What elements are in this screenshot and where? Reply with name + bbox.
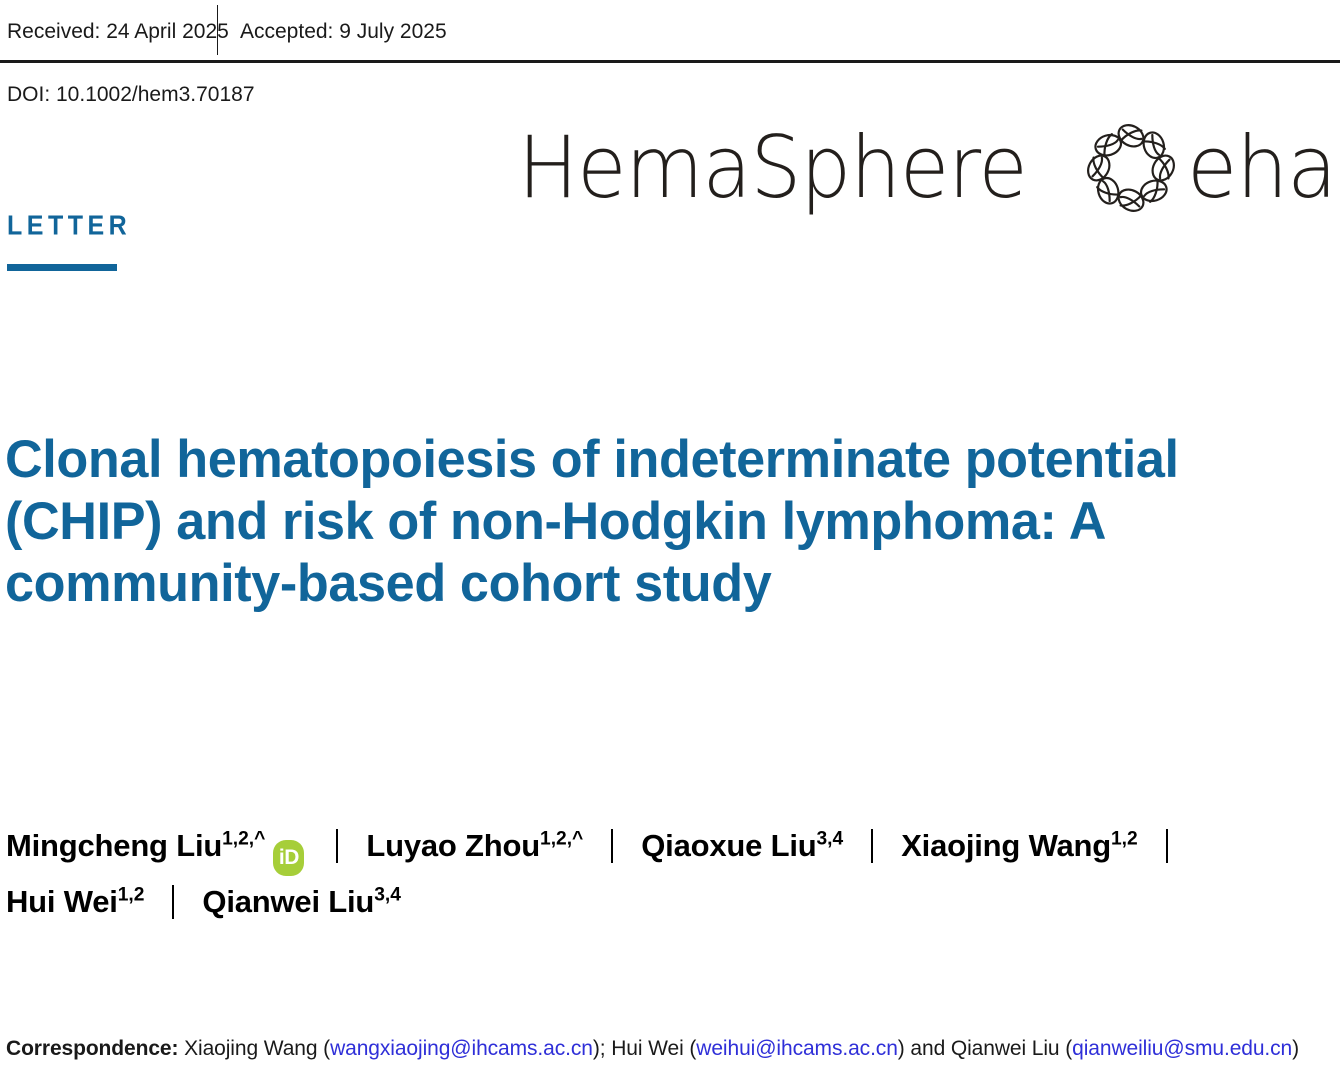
eha-ring-emblem-icon <box>1079 116 1183 220</box>
author-affiliation-marker: 1,2,^ <box>222 829 265 850</box>
author-affiliation-marker: 1,2 <box>1111 829 1138 850</box>
correspondence-email-link[interactable]: weihui@ihcams.ac.cn <box>696 1037 898 1060</box>
article-type-underline <box>7 264 117 271</box>
article-first-page: Received: 24 April 2025 Accepted: 9 July… <box>0 0 1340 1080</box>
author-name-text: Qiaoxue Liu <box>641 828 816 863</box>
eha-wordmark: eha <box>1187 125 1336 211</box>
author-name-text: Luyao Zhou <box>366 828 540 863</box>
author-6[interactable]: Qianwei Liu3,4 <box>202 884 400 919</box>
author-affiliation-marker: 3,4 <box>816 829 843 850</box>
author-separator <box>172 885 174 919</box>
correspondence-email-link[interactable]: qianweiliu@smu.edu.cn <box>1072 1037 1292 1060</box>
journal-title-wordmark: HemaSphere <box>518 125 1027 211</box>
author-separator <box>611 829 613 863</box>
author-name-text: Mingcheng Liu <box>6 828 222 863</box>
correspondence-text: ); Hui Wei ( <box>593 1037 696 1060</box>
journal-logo: HemaSphere <box>518 108 1340 228</box>
orcid-id-icon[interactable]: iD <box>273 840 304 876</box>
author-name-text: Xiaojing Wang <box>901 828 1111 863</box>
author-name-text: Hui Wei <box>6 884 118 919</box>
author-4[interactable]: Xiaojing Wang1,2 <box>901 828 1138 863</box>
author-3[interactable]: Qiaoxue Liu3,4 <box>641 828 843 863</box>
correspondence-email-link[interactable]: wangxiaojing@ihcams.ac.cn <box>330 1037 593 1060</box>
header-horizontal-rule <box>0 60 1340 63</box>
page-title: Clonal hematopoiesis of indeterminate po… <box>5 429 1286 615</box>
correspondence-label: Correspondence: <box>6 1037 178 1060</box>
correspondence-text: ) <box>1292 1037 1299 1060</box>
received-date: Received: 24 April 2025 <box>0 0 217 42</box>
author-5[interactable]: Hui Wei1,2 <box>6 884 144 919</box>
author-1[interactable]: Mingcheng Liu1,2,^ <box>6 828 265 863</box>
author-2[interactable]: Luyao Zhou1,2,^ <box>366 828 583 863</box>
accepted-date: Accepted: 9 July 2025 <box>218 0 447 42</box>
author-separator <box>871 829 873 863</box>
author-separator <box>336 829 338 863</box>
author-affiliation-marker: 1,2 <box>118 885 145 906</box>
doi-line[interactable]: DOI: 10.1002/hem3.70187 <box>7 82 255 108</box>
author-separator <box>1166 829 1168 863</box>
correspondence-text: Xiaojing Wang ( <box>178 1037 330 1060</box>
article-type-label: LETTER <box>7 212 131 240</box>
article-type-tag: LETTER <box>7 212 131 271</box>
author-list: Mingcheng Liu1,2,^iDLuyao Zhou1,2,^Qiaox… <box>6 820 1326 928</box>
correspondence-line: Correspondence: Xiaojing Wang (wangxiaoj… <box>6 1035 1336 1062</box>
author-name-text: Qianwei Liu <box>202 884 374 919</box>
correspondence-text: ) and Qianwei Liu ( <box>898 1037 1072 1060</box>
publication-dates-bar: Received: 24 April 2025 Accepted: 9 July… <box>0 0 1340 60</box>
author-affiliation-marker: 3,4 <box>374 885 401 906</box>
author-affiliation-marker: 1,2,^ <box>540 829 583 850</box>
